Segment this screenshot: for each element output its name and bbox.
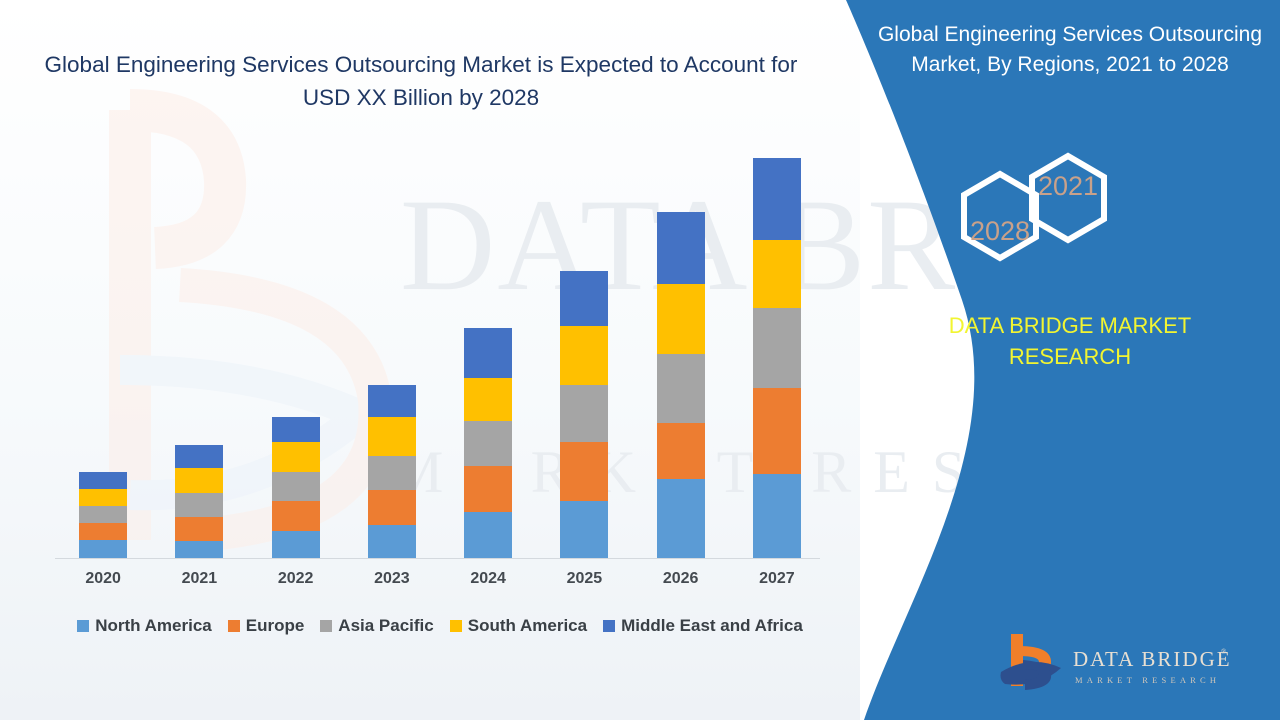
bar-segment [175,493,223,518]
stacked-bar [175,445,223,558]
bar-segment [368,490,416,524]
stacked-bar [464,328,512,558]
legend-item[interactable]: Middle East and Africa [603,616,803,636]
legend-label: Asia Pacific [338,616,433,636]
logo-secondary-text: MARKET RESEARCH [1075,675,1220,685]
bar-segment [657,284,705,354]
bar-segment [175,468,223,493]
legend-item[interactable]: Asia Pacific [320,616,433,636]
bar-segment [560,326,608,385]
bar-segment [657,354,705,423]
bar-segment [560,442,608,501]
legend-label: Europe [246,616,305,636]
stacked-bar [657,212,705,558]
stacked-bar [368,385,416,558]
bar-segment [753,308,801,389]
x-axis-line [55,558,820,559]
bar-column-2021 [151,150,247,558]
hexagon-group: 2028 2021 [860,150,1280,285]
bar-segment [79,540,127,558]
bar-segment [657,423,705,479]
data-bridge-logo: DATA BRIDGE ® MARKET RESEARCH [995,628,1245,698]
legend-item[interactable]: Europe [228,616,305,636]
stacked-bar [753,158,801,558]
bar-segment [657,479,705,558]
bar-column-2025 [536,150,632,558]
bar-segment [368,417,416,456]
x-axis-label-2025: 2025 [536,570,632,588]
bar-segment [560,271,608,326]
bar-segment [175,445,223,468]
bar-segment [175,517,223,541]
logo-primary-text: DATA BRIDGE [1073,647,1232,671]
legend-item[interactable]: North America [77,616,212,636]
x-axis-labels: 20202021202220232024202520262027 [55,570,825,588]
x-axis-label-2024: 2024 [440,570,536,588]
bar-column-2027 [729,150,825,558]
logo-trademark: ® [1221,648,1227,656]
x-axis-label-2027: 2027 [729,570,825,588]
x-axis-label-2026: 2026 [633,570,729,588]
legend-label: North America [95,616,212,636]
bar-segment [368,385,416,417]
bar-segment [368,456,416,490]
x-axis-label-2022: 2022 [248,570,344,588]
bar-column-2026 [633,150,729,558]
stacked-bar [560,271,608,558]
bar-segment [753,158,801,241]
bar-segment [753,240,801,308]
bar-segment [657,212,705,284]
bar-column-2020 [55,150,151,558]
legend-swatch [77,620,89,632]
bar-column-2023 [344,150,440,558]
bar-segment [464,466,512,512]
bar-segment [272,501,320,531]
legend-swatch [228,620,240,632]
brand-name: DATA BRIDGE MARKET RESEARCH [860,310,1280,372]
bar-segment [272,442,320,472]
bar-segment [464,378,512,421]
page-title: Global Engineering Services Outsourcing … [26,48,816,114]
bar-segment [272,531,320,558]
bar-segment [464,421,512,466]
stacked-bar [79,472,127,558]
x-axis-label-2020: 2020 [55,570,151,588]
bar-segment [560,501,608,558]
bar-segment [560,385,608,442]
stacked-bar [272,417,320,558]
bar-column-2024 [440,150,536,558]
bar-segment [368,525,416,558]
bar-segment [79,489,127,506]
legend-swatch [450,620,462,632]
bar-segment [79,472,127,489]
chart-panel: DATA BRIDGE MARKET RESEARCH Global Engin… [0,0,860,720]
bar-segment [464,512,512,558]
bar-column-2022 [248,150,344,558]
bar-segment [464,328,512,377]
x-axis-label-2021: 2021 [151,570,247,588]
hexagon-2028-label: 2028 [970,216,1030,246]
bar-segment [272,472,320,501]
infographic-canvas: DATA BRIDGE MARKET RESEARCH Global Engin… [0,0,1280,720]
x-axis-label-2023: 2023 [344,570,440,588]
bar-segment [79,523,127,540]
legend-swatch [603,620,615,632]
bar-segment [272,417,320,442]
legend-swatch [320,620,332,632]
hexagon-2021-label: 2021 [1038,171,1098,201]
legend-item[interactable]: South America [450,616,587,636]
legend-label: South America [468,616,587,636]
bar-segment [175,541,223,558]
right-panel-title: Global Engineering Services Outsourcing … [860,20,1280,80]
bar-segment [753,388,801,474]
bar-segment [79,506,127,522]
right-panel-content: Global Engineering Services Outsourcing … [860,0,1280,720]
legend-label: Middle East and Africa [621,616,803,636]
bar-segment [753,474,801,558]
chart-legend: North AmericaEuropeAsia PacificSouth Ame… [55,616,825,636]
stacked-bar-chart [55,150,825,558]
